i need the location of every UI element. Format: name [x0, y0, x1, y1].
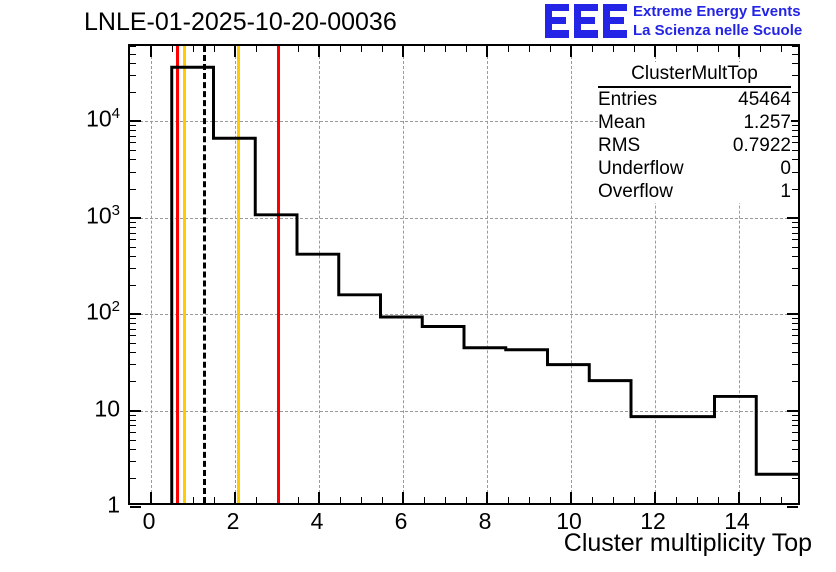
y-axis-labels: 110102103104: [58, 44, 120, 505]
eee-letter-3: [603, 4, 627, 38]
stats-value: 0: [780, 157, 791, 180]
stats-key: RMS: [598, 134, 640, 157]
stats-key: Underflow: [598, 157, 684, 180]
x-axis-tick-label: 2: [227, 508, 240, 535]
stats-key: Overflow: [598, 180, 673, 203]
eee-letter-2: [574, 4, 598, 38]
stats-rows: Entries45464Mean1.257RMS0.7922Underflow0…: [598, 88, 791, 203]
page-title: LNLE-01-2025-10-20-00036: [84, 8, 397, 37]
eee-logo-line2: La Scienza nelle Scuole: [633, 21, 802, 40]
stats-row: Mean1.257: [598, 111, 791, 134]
stats-value: 1.257: [743, 111, 791, 134]
histogram-canvas: LNLE-01-2025-10-20-00036 Extreme Energy …: [0, 0, 836, 572]
stats-key: Mean: [598, 111, 646, 134]
x-axis-tick-label: 0: [143, 508, 156, 535]
x-axis-tick-label: 8: [479, 508, 492, 535]
y-axis-tick-label: 1: [107, 492, 120, 519]
eee-logo-line1: Extreme Energy Events: [633, 2, 802, 21]
y-axis-tick-label: 103: [86, 202, 120, 229]
stats-key: Entries: [598, 88, 657, 111]
stats-value: 1: [780, 180, 791, 203]
eee-logo-mark: [545, 4, 627, 38]
stats-value: 0.7922: [733, 134, 791, 157]
stats-value: 45464: [738, 88, 791, 111]
stats-row: RMS0.7922: [598, 134, 791, 157]
x-axis-tick-label: 4: [311, 508, 324, 535]
y-axis-tick-label: 10: [94, 395, 120, 422]
stats-box: ClusterMultTop Entries45464Mean1.257RMS0…: [598, 62, 791, 203]
y-axis-tick-label: 104: [86, 106, 120, 133]
stats-row: Underflow0: [598, 157, 791, 180]
x-axis-title: Cluster multiplicity Top: [564, 529, 812, 558]
eee-logo: Extreme Energy Events La Scienza nelle S…: [545, 2, 833, 42]
stats-row: Overflow1: [598, 180, 791, 203]
eee-logo-text: Extreme Energy Events La Scienza nelle S…: [633, 2, 802, 40]
stats-row: Entries45464: [598, 88, 791, 111]
stats-title: ClusterMultTop: [598, 62, 791, 88]
eee-letter-1: [545, 4, 569, 38]
x-axis-tick-label: 6: [395, 508, 408, 535]
y-axis-tick-label: 102: [86, 299, 120, 326]
